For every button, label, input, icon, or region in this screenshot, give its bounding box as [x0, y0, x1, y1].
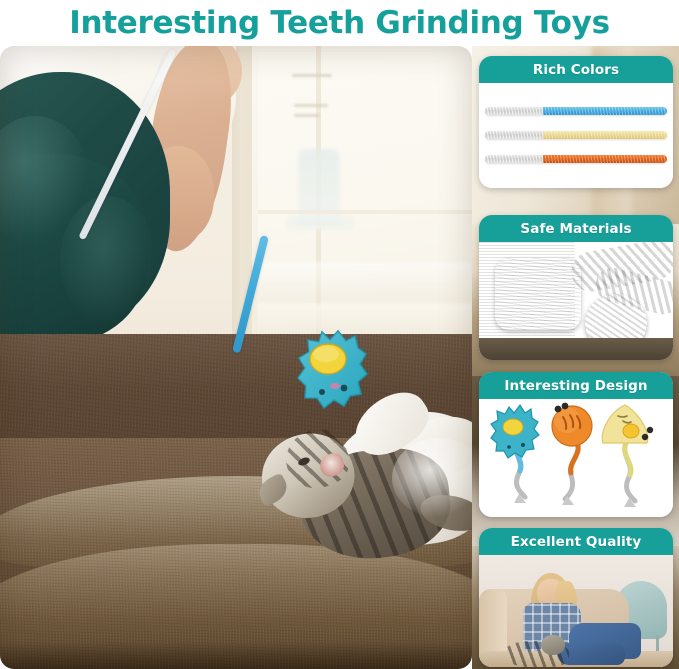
toy-crab: [552, 403, 592, 505]
page-title: Interesting Teeth Grinding Toys: [69, 5, 609, 41]
window-exterior-band: [258, 262, 472, 302]
product-infographic: Interesting Teeth Grinding Toys: [0, 0, 679, 669]
feature-card-title: Interesting Design: [504, 378, 647, 394]
window-blur-detail: [294, 104, 328, 107]
stick-gray-section: [485, 107, 547, 115]
stick-color-section: [543, 131, 667, 139]
window-blur-detail: [292, 74, 332, 77]
color-stick-yellow: [485, 131, 667, 139]
color-stick-blue: [485, 107, 667, 115]
feature-card-body: [479, 555, 673, 667]
color-stick-orange: [485, 155, 667, 163]
feature-card-title: Rich Colors: [533, 62, 619, 78]
feature-card-header: Excellent Quality: [479, 528, 673, 555]
jute-twine-spool: [495, 258, 581, 330]
stick-color-section: [543, 107, 667, 115]
pants-knee-shading: [60, 196, 156, 326]
window-outdoor-object: [286, 216, 354, 230]
toy-dinosaur: [491, 405, 539, 503]
feature-card-header: Interesting Design: [479, 372, 673, 399]
toy-cheese-mouse: [602, 405, 653, 507]
dinosaur-toy: [292, 328, 374, 420]
hero-lifestyle-photo: [0, 46, 472, 669]
feature-card-body: [479, 242, 673, 360]
feature-card-rich-colors: Rich Colors: [479, 56, 673, 188]
tabby-cat-head: [541, 635, 565, 655]
feature-card-body: [479, 399, 673, 517]
feature-card-safe-materials: Safe Materials: [479, 215, 673, 360]
stick-gray-section: [485, 131, 547, 139]
feature-card-excellent-quality: Excellent Quality: [479, 528, 673, 667]
feature-card-header: Safe Materials: [479, 215, 673, 242]
window-rail: [258, 210, 472, 214]
page-title-bar: Interesting Teeth Grinding Toys: [0, 0, 679, 46]
window-blur-detail: [294, 114, 320, 117]
feature-card-title: Safe Materials: [520, 221, 631, 237]
feature-card-header: Rich Colors: [479, 56, 673, 83]
feature-card-body: [479, 83, 673, 188]
feature-card-interesting-design: Interesting Design: [479, 372, 673, 517]
sofa-bottom-shadow: [0, 642, 472, 669]
material-floor: [479, 338, 673, 360]
stick-color-section: [543, 155, 667, 163]
feature-card-title: Excellent Quality: [511, 534, 642, 550]
stick-gray-section: [485, 155, 547, 163]
toy-lineup: [479, 399, 673, 517]
